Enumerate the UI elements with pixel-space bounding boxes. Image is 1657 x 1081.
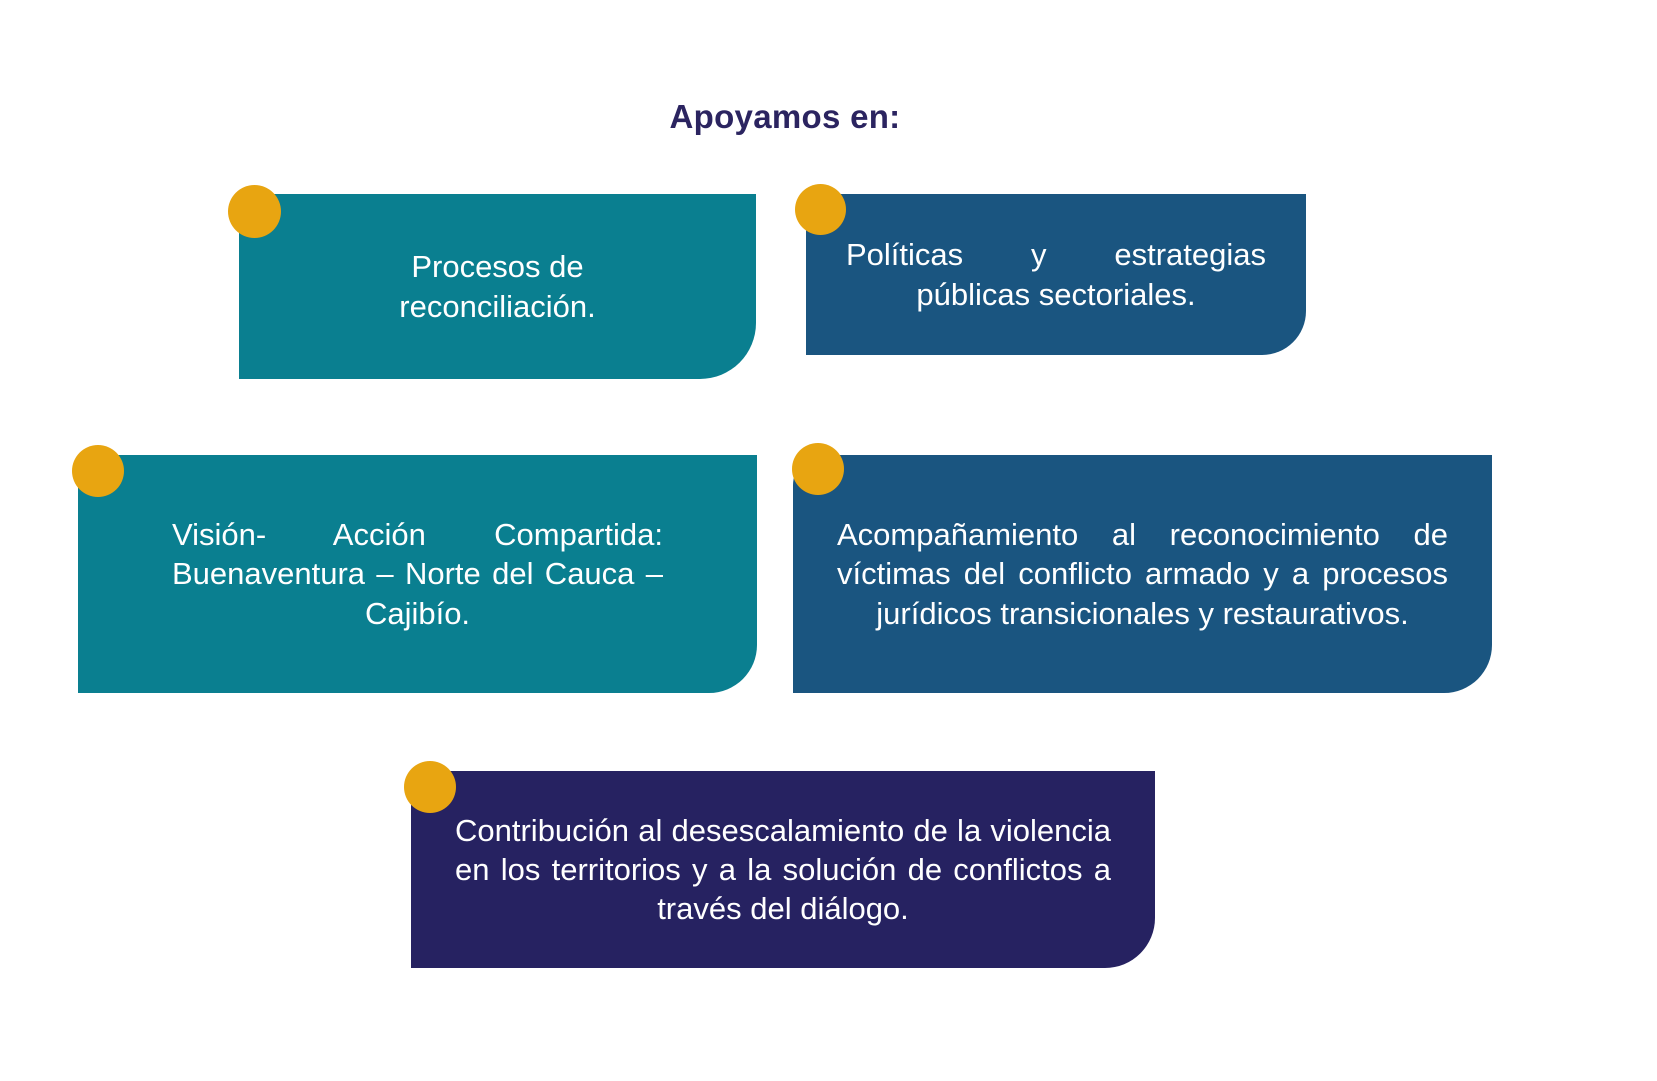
infographic-canvas: Apoyamos en: Procesos de reconciliación.…	[0, 0, 1657, 1081]
bullet-dot-icon	[228, 185, 281, 238]
card-text: Visión- Acción Compartida: Buenaventura …	[172, 515, 663, 632]
card-text: Políticas y estrategias públicas sectori…	[846, 235, 1266, 313]
bullet-dot-icon	[404, 761, 456, 813]
card-contribucion-desescalamiento: Contribución al desescalamiento de la vi…	[411, 771, 1155, 968]
page-title: Apoyamos en:	[0, 98, 1570, 136]
card-acompanamiento-reconocimiento: Acompañamiento al reconocimiento de víct…	[793, 455, 1492, 693]
bullet-dot-icon	[792, 443, 844, 495]
card-text: Contribución al desescalamiento de la vi…	[455, 811, 1111, 928]
bullet-dot-icon	[795, 184, 846, 235]
card-vision-accion-compartida: Visión- Acción Compartida: Buenaventura …	[78, 455, 757, 693]
card-text: Acompañamiento al reconocimiento de víct…	[837, 515, 1448, 632]
card-politicas-estrategias: Políticas y estrategias públicas sectori…	[806, 194, 1306, 355]
bullet-dot-icon	[72, 445, 124, 497]
card-procesos-reconciliacion: Procesos de reconciliación.	[239, 194, 756, 379]
card-text: Procesos de reconciliación.	[283, 247, 712, 325]
